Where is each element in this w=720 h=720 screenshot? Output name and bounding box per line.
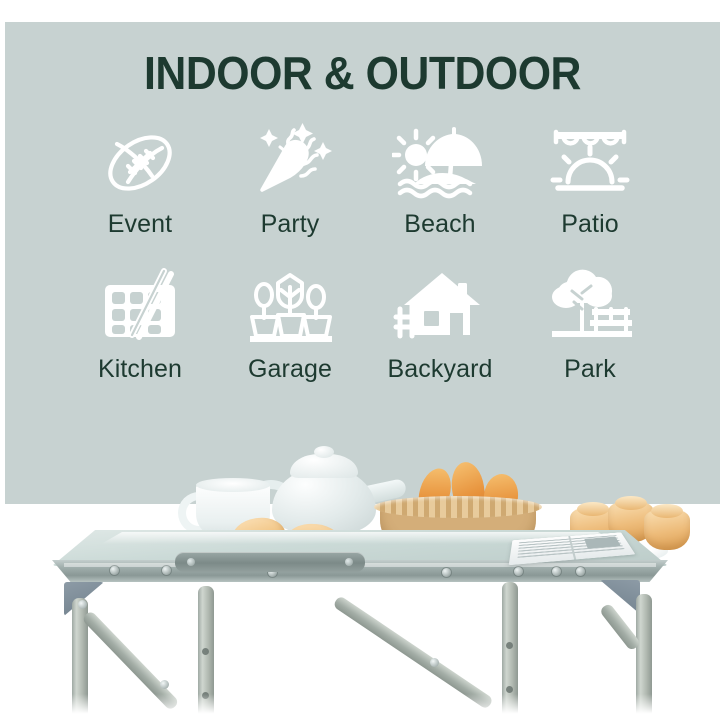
teapot-knob bbox=[314, 446, 334, 458]
party-popper-icon bbox=[242, 120, 338, 206]
carry-handle bbox=[175, 552, 365, 572]
use-case-label: Party bbox=[261, 212, 320, 237]
use-case-kitchen: Kitchen bbox=[65, 265, 215, 382]
leg-pin bbox=[78, 600, 87, 609]
tree-bench-icon bbox=[542, 265, 638, 351]
use-case-backyard: Backyard bbox=[365, 265, 515, 382]
use-case-label: Kitchen bbox=[98, 357, 182, 382]
use-case-label: Backyard bbox=[387, 357, 492, 382]
height-adjust-hole bbox=[506, 686, 513, 693]
use-case-label: Event bbox=[108, 212, 172, 237]
teacup-rim bbox=[196, 478, 270, 492]
product-photo bbox=[0, 430, 720, 720]
height-adjust-hole bbox=[202, 648, 209, 655]
use-case-beach: Beach bbox=[365, 120, 515, 237]
dish-rack-utensils-icon bbox=[92, 265, 188, 351]
rivet bbox=[110, 566, 119, 575]
use-case-label: Patio bbox=[561, 212, 618, 237]
leg-brace-centre bbox=[332, 595, 493, 710]
page-title: INDOOR & OUTDOOR bbox=[30, 46, 695, 100]
height-adjust-hole bbox=[506, 642, 513, 649]
product-banner-image: INDOOR & OUTDOOR Event bbox=[0, 0, 720, 720]
string-lights-awning-icon bbox=[542, 120, 638, 206]
use-case-garage: Garage bbox=[215, 265, 365, 382]
basket-rim bbox=[374, 496, 542, 518]
use-case-party: Party bbox=[215, 120, 365, 237]
leg-brace-right bbox=[599, 602, 641, 651]
rivet bbox=[552, 567, 561, 576]
use-case-label: Beach bbox=[404, 212, 475, 237]
rivet bbox=[514, 567, 523, 576]
use-case-label: Garage bbox=[248, 357, 332, 382]
rivet bbox=[442, 568, 451, 577]
use-case-label: Park bbox=[564, 357, 616, 382]
house-fence-icon bbox=[392, 265, 488, 351]
photo-bottom-fade bbox=[0, 694, 720, 720]
rivet bbox=[162, 566, 171, 575]
use-case-event: Event bbox=[65, 120, 215, 237]
leg-pin bbox=[160, 680, 169, 689]
use-case-grid: Event bbox=[65, 120, 665, 382]
football-icon bbox=[92, 120, 188, 206]
potted-plants-shelf-icon bbox=[242, 265, 338, 351]
leg-pin bbox=[430, 658, 439, 667]
beach-umbrella-icon bbox=[392, 120, 488, 206]
use-case-patio: Patio bbox=[515, 120, 665, 237]
rivet bbox=[576, 567, 585, 576]
use-case-park: Park bbox=[515, 265, 665, 382]
